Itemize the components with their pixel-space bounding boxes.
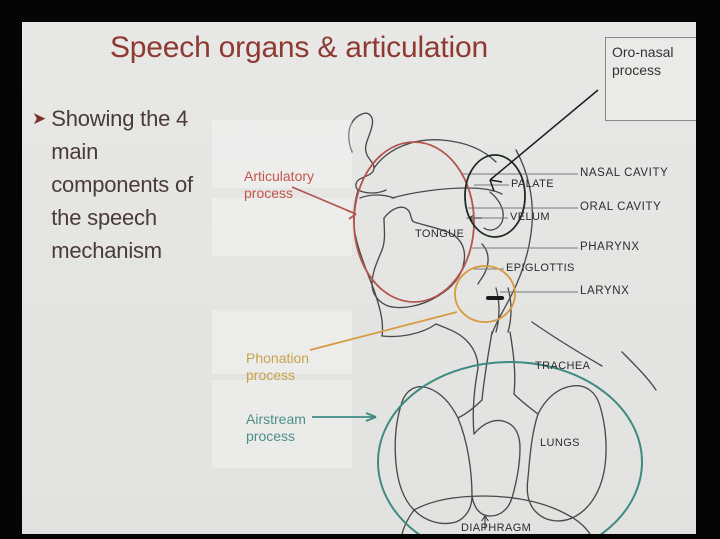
anatomy-label-tongue: TONGUE bbox=[415, 228, 464, 240]
articulatory-label-line1: Articulatory bbox=[244, 168, 314, 185]
anatomy-label-palate: PALATE bbox=[511, 178, 554, 190]
anatomy-label-oral-cavity: ORAL CAVITY bbox=[580, 201, 661, 213]
phonation-circle bbox=[455, 266, 515, 322]
presentation-slide: Speech organs & articulation ➤ Showing t… bbox=[22, 22, 696, 534]
anatomy-label-epiglottis: EPIGLOTTIS bbox=[506, 262, 575, 274]
oronasal-process-callout: Oro-nasal process bbox=[605, 37, 696, 121]
anatomy-label-larynx: LARYNX bbox=[580, 285, 629, 297]
anatomy-label-lungs: LUNGS bbox=[540, 437, 580, 449]
phonation-label-line2: process bbox=[246, 367, 309, 384]
anatomy-label-velum: VELUM bbox=[510, 211, 550, 223]
articulatory-label-line2: process bbox=[244, 185, 314, 202]
articulatory-circle bbox=[354, 142, 474, 302]
phonation-label-line1: Phonation bbox=[246, 350, 309, 367]
airstream-process-label: Airstream process bbox=[246, 411, 306, 445]
anatomy-label-nasal-cavity: NASAL CAVITY bbox=[580, 167, 668, 179]
phonation-process-label: Phonation process bbox=[246, 350, 309, 384]
oronasal-label-line1: Oro-nasal bbox=[612, 43, 696, 61]
anatomy-label-trachea: TRACHEA bbox=[535, 360, 590, 372]
airstream-arrow bbox=[312, 413, 376, 421]
anatomy-label-diaphragm: DIAPHRAGM bbox=[461, 522, 531, 534]
slide-photo-frame: Speech organs & articulation ➤ Showing t… bbox=[0, 0, 720, 539]
airstream-label-line1: Airstream bbox=[246, 411, 306, 428]
airstream-label-line2: process bbox=[246, 428, 306, 445]
oronasal-label-line2: process bbox=[612, 61, 696, 79]
airstream-circle bbox=[378, 362, 642, 534]
articulatory-process-label: Articulatory process bbox=[244, 168, 314, 202]
anatomy-label-pharynx: PHARYNX bbox=[580, 241, 640, 253]
phonation-arrow bbox=[310, 312, 457, 350]
oronasal-circle bbox=[465, 155, 525, 237]
annotation-overlay bbox=[22, 22, 696, 534]
